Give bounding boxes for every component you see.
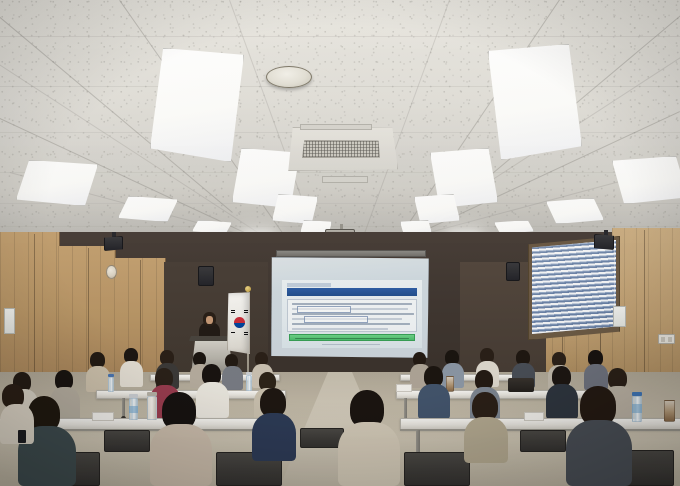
handbag [508, 378, 534, 392]
led-panel-light [150, 48, 244, 162]
led-panel-light [612, 156, 680, 204]
bottle-label [632, 404, 642, 413]
trigram-mark [231, 332, 235, 333]
bottle-cap [147, 392, 157, 396]
projection-screen [271, 257, 429, 358]
wall-notice-sign [613, 306, 626, 327]
screen-roller-housing [276, 250, 426, 257]
bottle-cap [129, 394, 138, 398]
ceiling [0, 0, 680, 250]
bottle-cap [632, 392, 642, 396]
trigram-mark [244, 312, 248, 313]
trigram-mark [244, 334, 248, 335]
wall-power-outlet[interactable] [658, 334, 675, 344]
led-panel-light [546, 198, 604, 224]
flag-pole-finial [245, 286, 251, 292]
taeguk-red-half [234, 317, 245, 328]
trigram-mark [244, 310, 248, 311]
window-blinds[interactable] [532, 240, 616, 334]
wall-notice-sign [4, 308, 15, 334]
slide-emphasis-box [304, 316, 368, 323]
led-panel-light [272, 194, 318, 224]
handout-paper [396, 384, 412, 392]
wall-speaker [506, 262, 520, 281]
chair[interactable] [520, 430, 566, 452]
ceiling-speaker [266, 66, 312, 88]
water-bottle [108, 377, 114, 392]
led-panel-light [414, 194, 460, 224]
smartphone[interactable] [18, 430, 26, 443]
chair[interactable] [104, 430, 150, 452]
bottle-label [129, 406, 138, 413]
ac-grille [302, 140, 380, 158]
slide-body-block [287, 299, 417, 332]
coffee-cup [664, 400, 675, 422]
led-panel-light [16, 160, 98, 206]
taeguk-blue-half [234, 323, 245, 329]
south-korean-flag [227, 292, 250, 354]
wall-light-fixture [106, 265, 117, 279]
slide-green-callout [289, 334, 415, 341]
presenter-face [206, 316, 213, 324]
trigram-mark [231, 312, 235, 313]
wall-speaker [198, 266, 214, 286]
slide-eyebrow-bar [287, 283, 331, 287]
wall-speaker [104, 236, 123, 251]
ac-vent-slot [322, 176, 368, 183]
trigram-mark [244, 332, 248, 333]
water-bottle [246, 375, 252, 391]
blind-pull-cord[interactable] [614, 240, 615, 306]
slide-title-bar [287, 288, 417, 296]
led-panel-light [488, 44, 582, 160]
handout-paper [92, 412, 114, 421]
led-panel-light [118, 196, 178, 222]
trigram-mark [231, 310, 235, 311]
handout-paper [524, 412, 544, 421]
bottle-cap [246, 372, 252, 375]
wall-speaker [594, 234, 614, 250]
chair[interactable] [404, 452, 470, 486]
water-bottle [147, 396, 157, 420]
bottle-cap [108, 374, 114, 377]
slide-footer-line [322, 344, 380, 345]
seminar-room-photo [0, 0, 680, 486]
slide-emphasis-box [297, 306, 351, 313]
ac-vent-slot [300, 124, 372, 130]
presentation-slide [282, 280, 422, 348]
